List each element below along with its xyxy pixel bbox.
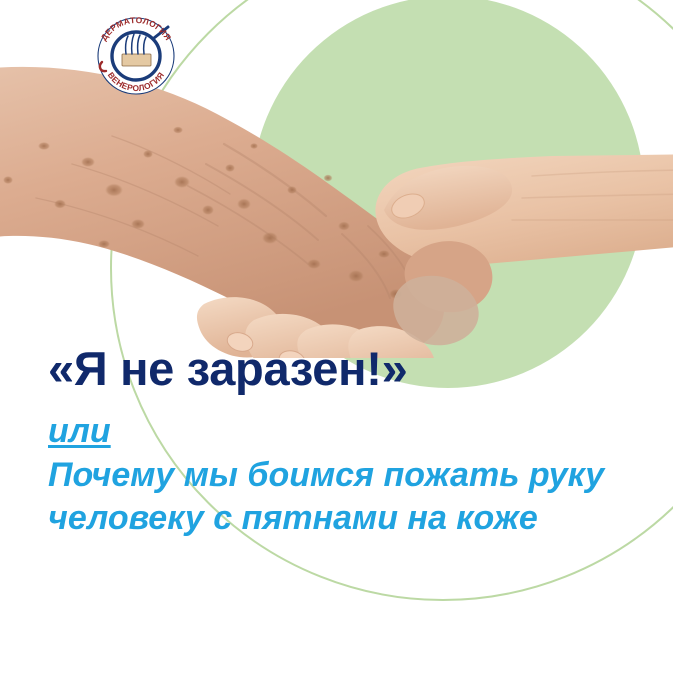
handshake-photo xyxy=(0,58,673,358)
headline: «Я не заразен!» xyxy=(48,344,648,394)
subtitle-or-wrap: или xyxy=(48,412,648,452)
text-block: «Я не заразен!» или Почему мы боимся пож… xyxy=(48,344,648,541)
subtitle-body: Почему мы боимся пожать руку человеку с … xyxy=(48,454,623,541)
subtitle-or: или xyxy=(48,412,111,450)
logo-skin-block xyxy=(122,54,151,66)
poster-canvas: ДЕРМАТОЛОГИЯ ВЕНЕРОЛОГИЯ «Я не заразен!»… xyxy=(0,0,673,673)
clinic-logo: ДЕРМАТОЛОГИЯ ВЕНЕРОЛОГИЯ xyxy=(88,8,184,100)
